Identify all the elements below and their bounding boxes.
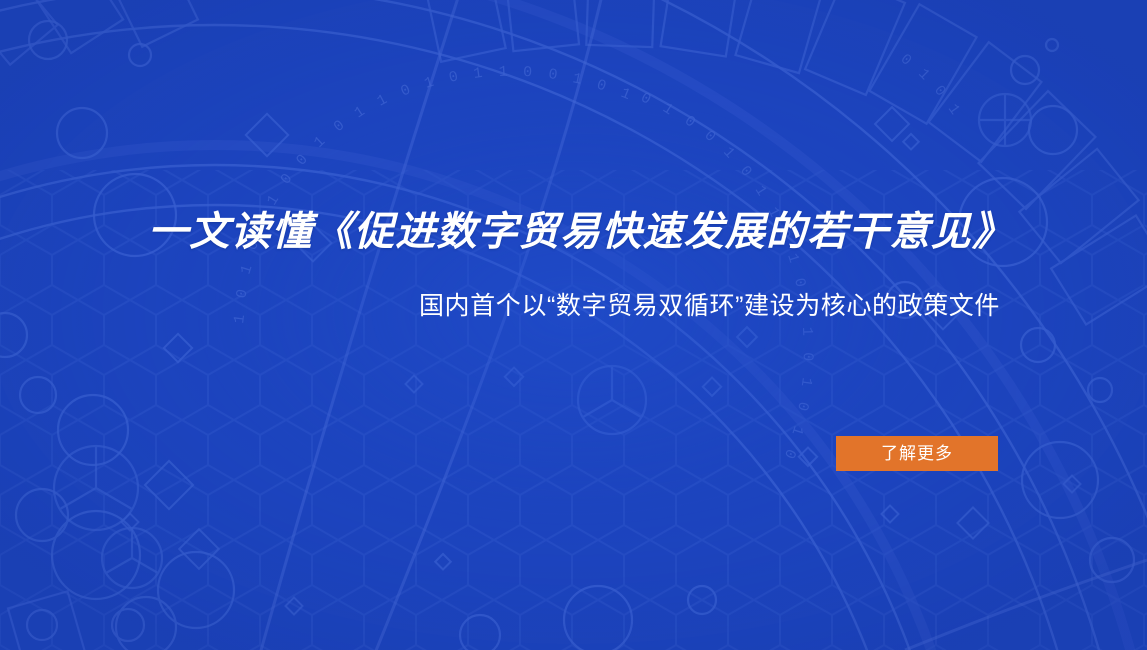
page-title: 一文读懂《促进数字贸易快速发展的若干意见》	[148, 206, 1018, 258]
learn-more-button[interactable]: 了解更多	[836, 436, 998, 471]
banner-slide: 0 1 0 0 1 0 1 1 0 1 0 1 1 0 1 0 1 0 1 0	[0, 0, 1147, 650]
banner-content: 一文读懂《促进数字贸易快速发展的若干意见》 国内首个以“数字贸易双循环”建设为核…	[0, 0, 1147, 650]
page-subtitle: 国内首个以“数字贸易双循环”建设为核心的政策文件	[300, 288, 1000, 324]
